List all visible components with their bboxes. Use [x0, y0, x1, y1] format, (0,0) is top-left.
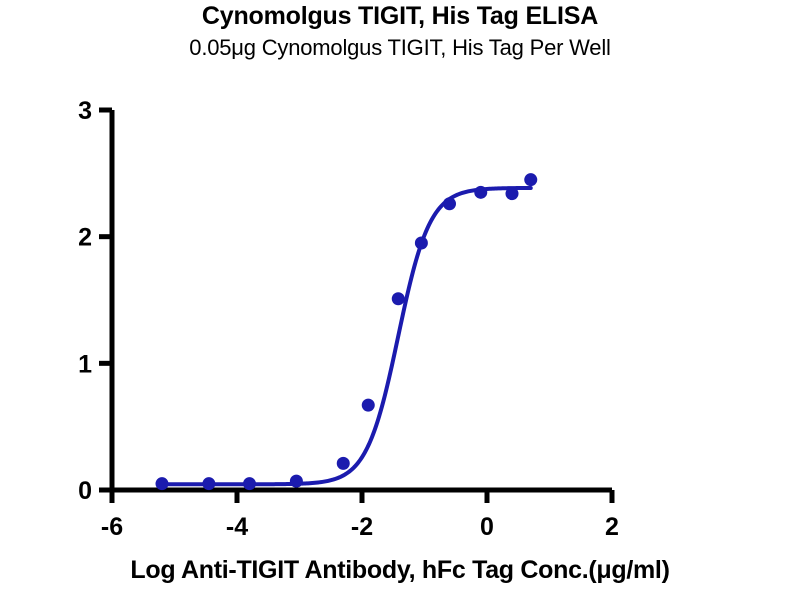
y-axis-tick-label: 1	[78, 350, 92, 378]
data-point	[506, 187, 519, 200]
data-point	[290, 475, 303, 488]
elisa-chart-figure: Cynomolgus TIGIT, His Tag ELISA 0.05μg C…	[0, 0, 800, 600]
x-axis-tick-label: -2	[351, 513, 373, 541]
x-axis-tick-label: 0	[480, 513, 494, 541]
x-axis-ticks: -6-4-202	[101, 490, 619, 541]
data-point	[243, 477, 256, 490]
data-point	[156, 477, 169, 490]
data-point	[474, 186, 487, 199]
y-axis-tick-label: 3	[78, 97, 92, 125]
data-point	[337, 457, 350, 470]
data-point	[362, 399, 375, 412]
data-point	[415, 237, 428, 250]
y-axis-tick-label: 2	[78, 224, 92, 252]
fit-curve	[162, 188, 531, 484]
axes	[112, 110, 612, 490]
x-axis-tick-label: -4	[226, 513, 248, 541]
x-axis-tick-label: 2	[605, 513, 619, 541]
data-point-group	[156, 173, 538, 490]
data-point	[392, 292, 405, 305]
plot-area: 0123 -6-4-202	[0, 0, 800, 600]
data-point	[524, 173, 537, 186]
data-point	[443, 197, 456, 210]
data-point	[202, 477, 215, 490]
x-axis-tick-label: -6	[101, 513, 123, 541]
y-axis-ticks: 0123	[78, 97, 112, 505]
y-axis-tick-label: 0	[78, 477, 92, 505]
